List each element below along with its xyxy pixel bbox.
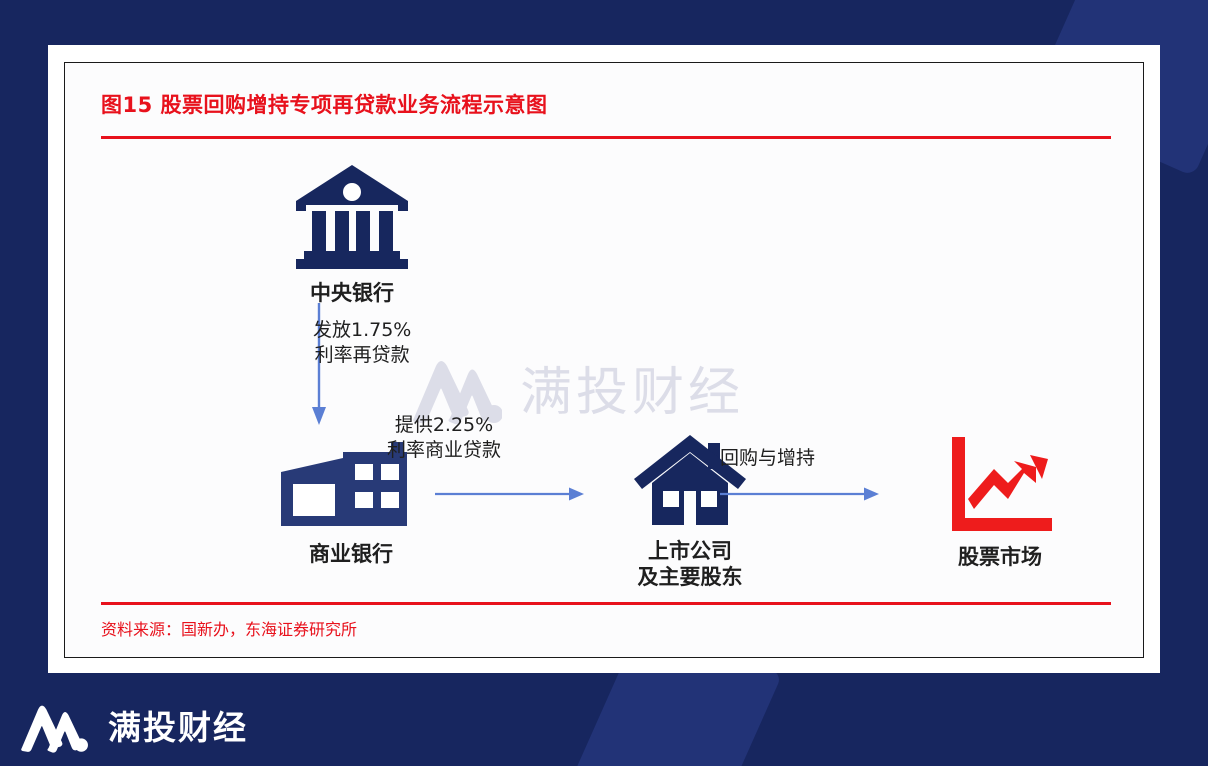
connector-label-commercial-loan: 提供2.25% 利率商业贷款 [387,413,501,462]
bank-building-icon [292,161,412,273]
title-divider-top [101,136,1111,139]
flow-node-label-second-line: 及主要股东 [638,565,743,591]
rising-chart-icon [944,433,1056,537]
flow-node-label: 上市公司 [648,539,732,565]
connector-label-line-1: 发放1.75% [313,318,411,343]
connector-label-line-2: 利率再贷款 [313,343,411,368]
brand-footer-text: 满投财经 [108,701,248,749]
connector-label-loan-rate: 发放1.75% 利率再贷款 [313,318,411,367]
brand-m-logo-icon [14,696,92,754]
figure-page: 图15 股票回购增持专项再贷款业务流程示意图 资料来源：国新办，东海证券研究所 … [0,0,1208,766]
figure-card-inner: 图15 股票回购增持专项再贷款业务流程示意图 资料来源：国新办，东海证券研究所 … [64,62,1144,658]
figure-source: 资料来源：国新办，东海证券研究所 [101,616,357,640]
connector-label-buyback: 回购与增持 [720,446,815,471]
arrow-right-icon [435,483,585,505]
flow-node-label: 股票市场 [958,545,1042,571]
flow-node-stock-market[interactable]: 股票市场 [885,433,1115,571]
brand-footer: 满投财经 [14,696,248,754]
watermark-text: 满投财经 [520,350,744,425]
arrow-right-icon [720,483,880,505]
flow-node-label: 商业银行 [309,542,393,568]
connector-label-line-1: 回购与增持 [720,446,815,471]
figure-title: 图15 股票回购增持专项再贷款业务流程示意图 [101,89,548,119]
connector-label-line-2: 利率商业贷款 [387,438,501,463]
connector-label-line-1: 提供2.25% [387,413,501,438]
figure-card: 图15 股票回购增持专项再贷款业务流程示意图 资料来源：国新办，东海证券研究所 … [48,45,1160,673]
source-divider-bottom [101,602,1111,605]
flow-node-central-bank[interactable]: 中央银行 [247,161,457,307]
